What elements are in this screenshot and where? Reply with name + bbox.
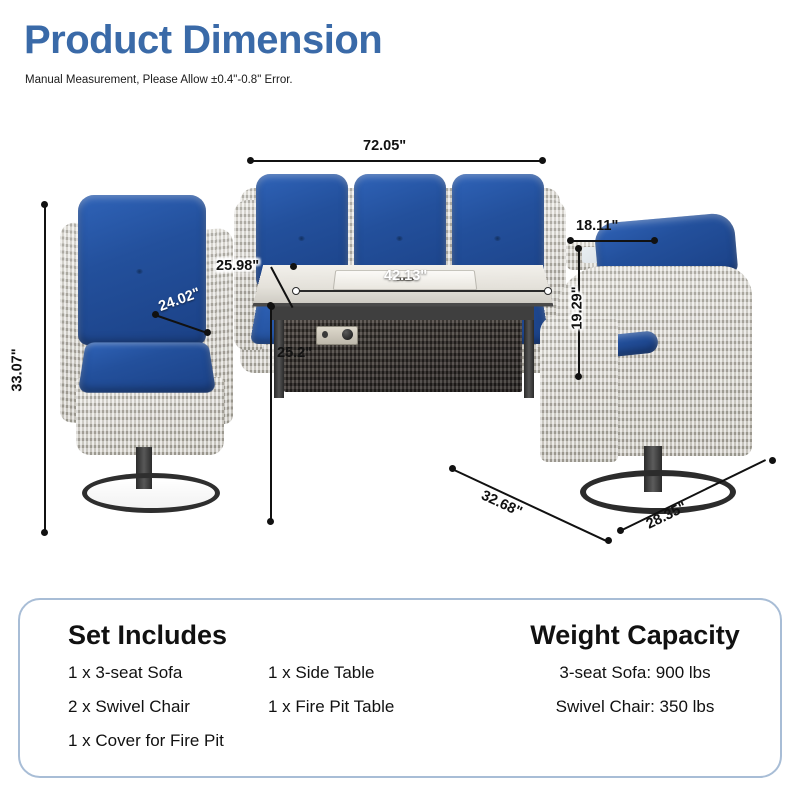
list-item: 1 x Side Table <box>268 663 488 683</box>
dimension-endpoint <box>651 237 658 244</box>
weight-capacity-section: Weight Capacity 3-seat Sofa: 900 lbs Swi… <box>500 622 770 731</box>
dimension-endpoint <box>539 157 546 164</box>
dimension-endpoint <box>247 157 254 164</box>
dimension-endpoint <box>152 311 159 318</box>
product-dimension-infographic: Product Dimension Manual Measurement, Pl… <box>0 0 800 800</box>
firepit-control-knob <box>342 329 353 340</box>
dimension-label-sidetable-width: 18.11" <box>576 218 618 234</box>
dimension-endpoint <box>575 245 582 252</box>
list-item: Swivel Chair: 350 lbs <box>500 697 770 717</box>
dimension-endpoint <box>575 373 582 380</box>
dimension-endpoint <box>292 287 300 295</box>
dimension-endpoint <box>41 201 48 208</box>
dimension-endpoint <box>544 287 552 295</box>
firepit-ignition-button <box>322 331 328 338</box>
furniture-photo: 72.05" 33.07" 24.02" 25.98" 42.13" 25.2"… <box>0 100 800 580</box>
measurement-disclaimer: Manual Measurement, Please Allow ±0.4"-0… <box>25 74 293 86</box>
list-item: 3-seat Sofa: 900 lbs <box>500 663 770 683</box>
list-item: 1 x Cover for Fire Pit <box>68 731 268 751</box>
swivel-chair-left <box>60 195 245 545</box>
dimension-endpoint <box>617 527 624 534</box>
dimension-endpoint <box>267 518 274 525</box>
chair-left-seat-cushion <box>78 342 216 392</box>
dimension-line-sofa-width <box>250 160 542 162</box>
tuft-button-icon <box>136 269 143 274</box>
chair-right-swivel-ring <box>580 470 736 514</box>
dimension-label-sofa-width: 72.05" <box>363 138 406 154</box>
dimension-line-firepit-height <box>270 305 272 521</box>
tuft-button-icon <box>396 236 403 241</box>
chair-left-back-cushion <box>78 195 206 345</box>
set-includes-heading: Set Includes <box>68 622 468 649</box>
list-item: 1 x Fire Pit Table <box>268 697 488 717</box>
swivel-chair-right <box>540 218 760 548</box>
dimension-endpoint <box>769 457 776 464</box>
dimension-endpoint <box>605 537 612 544</box>
weight-capacity-heading: Weight Capacity <box>500 622 770 649</box>
info-panel: Set Includes 1 x 3-seat Sofa 1 x Side Ta… <box>18 598 782 778</box>
dimension-endpoint <box>449 465 456 472</box>
dimension-label-firepit-height: 25.2" <box>277 345 312 361</box>
dimension-label-sidetable-height: 19.29" <box>570 286 586 329</box>
dimension-endpoint <box>567 237 574 244</box>
dimension-line-firepit-width <box>296 290 548 292</box>
chair-left-swivel-ring <box>82 473 220 513</box>
dimension-label-chair-height: 33.07" <box>10 348 26 391</box>
dimension-endpoint <box>41 529 48 536</box>
tuft-button-icon <box>298 236 305 241</box>
list-item: 1 x 3-seat Sofa <box>68 663 268 683</box>
tuft-button-icon <box>494 236 501 241</box>
dimension-line-sidetable-width <box>570 240 654 242</box>
page-title: Product Dimension <box>24 20 382 60</box>
firepit-leg-right <box>524 316 534 398</box>
set-includes-section: Set Includes 1 x 3-seat Sofa 1 x Side Ta… <box>68 622 468 751</box>
dimension-label-sofa-seat-height: 25.98" <box>216 258 259 274</box>
list-item: 2 x Swivel Chair <box>68 697 268 717</box>
dimension-label-firepit-width: 42.13" <box>384 268 427 284</box>
dimension-endpoint <box>267 302 274 309</box>
set-includes-list: 1 x 3-seat Sofa 1 x Side Table 2 x Swive… <box>68 663 468 751</box>
dimension-endpoint <box>290 263 297 270</box>
dimension-endpoint <box>204 329 211 336</box>
dimension-line-chair-height <box>44 204 46 532</box>
